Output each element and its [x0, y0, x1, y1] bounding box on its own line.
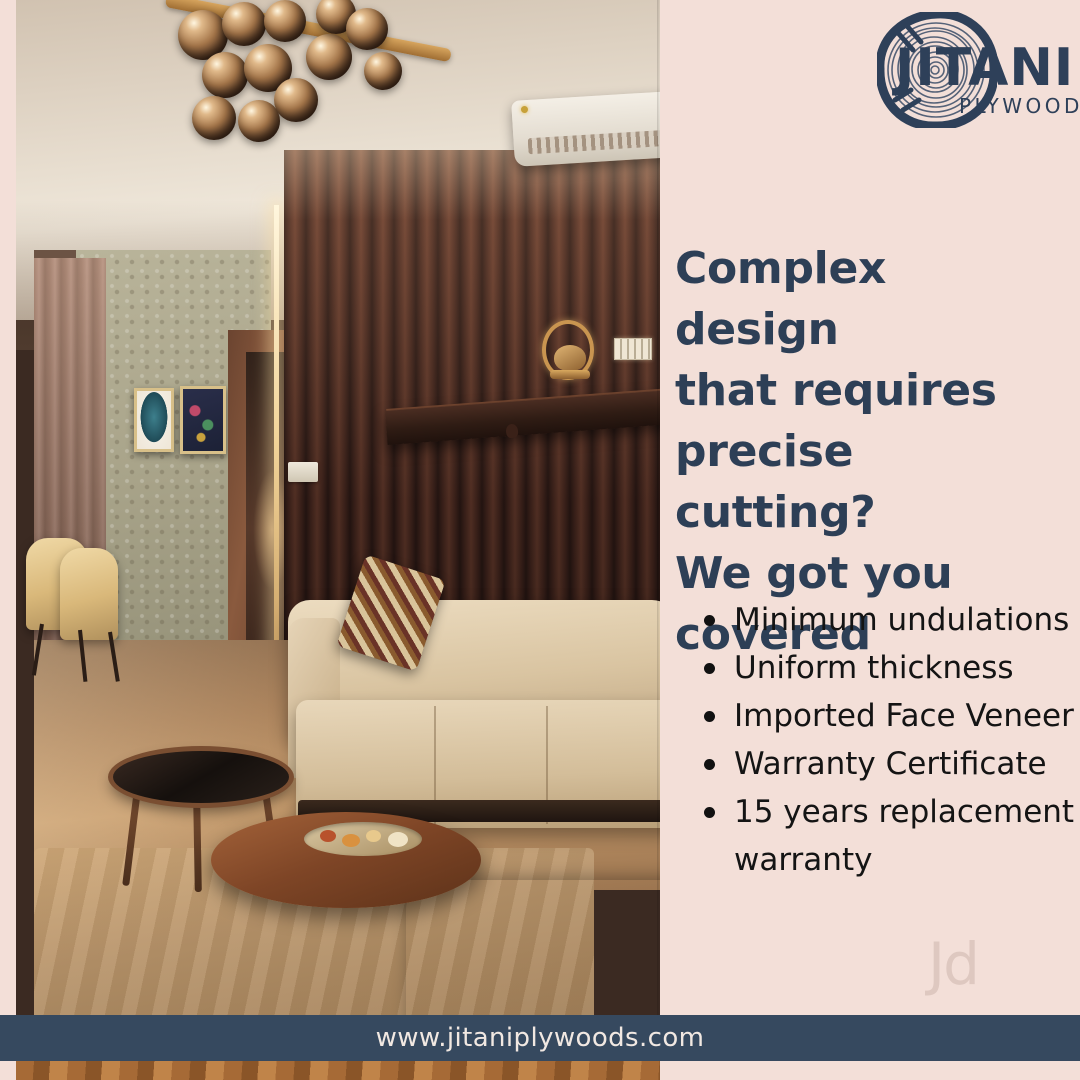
list-item: Warranty Certificate — [690, 740, 1080, 788]
brand-logo[interactable]: JITANI PLYWOODS — [867, 8, 1072, 130]
headline-line: Complex design — [675, 238, 1055, 360]
list-item: 15 years replacement warranty — [690, 788, 1080, 884]
headline-line: We got you — [675, 543, 1055, 604]
list-item: Uniform thickness — [690, 644, 1080, 692]
chandelier-globe — [264, 0, 306, 42]
framed-wall-art — [134, 388, 174, 452]
poster-canvas: JITANI PLYWOODS Complex design that requ… — [0, 0, 1080, 1080]
logo-wordmark: JITANI PLYWOODS — [867, 8, 1072, 130]
list-item: Minimum undulations — [690, 596, 1080, 644]
snack-item — [342, 834, 360, 847]
vertical-light-strip — [274, 205, 279, 665]
feature-list: Minimum undulations Uniform thickness Im… — [690, 596, 1080, 884]
chandelier-globe — [346, 8, 388, 50]
headline-line: that requires — [675, 360, 1055, 421]
gold-sculpture-body — [554, 345, 586, 371]
wall-switch-plate — [288, 462, 318, 482]
snack-item — [388, 832, 408, 847]
headline-line: precise cutting? — [675, 421, 1055, 543]
logo-brand-name: JITANI — [895, 42, 1075, 94]
list-item: Imported Face Veneer — [690, 692, 1080, 740]
chandelier-globe — [274, 78, 318, 122]
justdial-watermark: Jd — [928, 930, 978, 998]
sofa-chaise — [406, 880, 660, 1030]
snack-item — [366, 830, 381, 842]
wall-switch-plate — [614, 338, 652, 360]
gold-sculpture-base — [550, 370, 590, 379]
interior-photo — [16, 0, 660, 1080]
chandelier-globe — [364, 52, 402, 90]
air-conditioner-icon — [511, 91, 660, 167]
chandelier-globe — [202, 52, 248, 98]
snack-item — [320, 830, 336, 842]
dining-chair — [60, 548, 118, 640]
chandelier-globe — [222, 2, 266, 46]
logo-tagline: PLYWOODS — [959, 94, 1080, 118]
framed-wall-art — [180, 386, 226, 454]
chandelier-globe — [192, 96, 236, 140]
chandelier-globe — [306, 34, 352, 80]
chandelier-globe — [238, 100, 280, 142]
bottom-wood-strip — [16, 1061, 660, 1080]
glass-table-rim — [108, 746, 294, 808]
website-url[interactable]: www.jitaniplywoods.com — [0, 1015, 1080, 1061]
bird-figurine — [505, 424, 518, 439]
